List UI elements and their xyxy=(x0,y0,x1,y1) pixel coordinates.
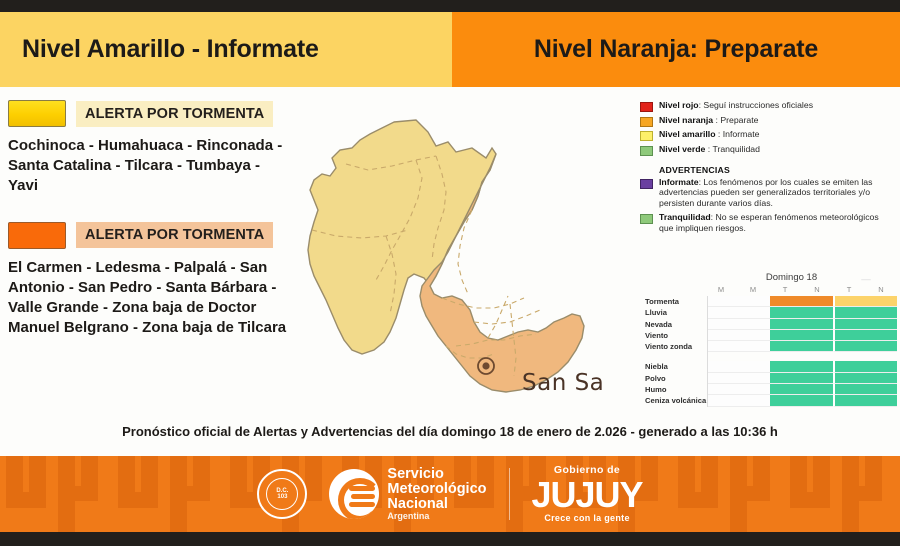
forecast-row-cells xyxy=(707,384,897,395)
footer-divider xyxy=(509,468,510,520)
yellow-level-swatch xyxy=(8,100,66,127)
defensa-civil-emblem-inner: D.C. 103 xyxy=(266,478,298,510)
alerts-column: ALERTA POR TORMENTA Cochinoca - Humahuac… xyxy=(0,100,300,354)
legend-desc-yellow: : Informate xyxy=(716,129,760,139)
forecast-cell xyxy=(802,384,833,395)
advertencia-name-tranquilidad: Tranquilidad xyxy=(659,212,711,222)
forecast-cell xyxy=(866,341,897,352)
forecast-row: Niebla xyxy=(645,361,897,372)
forecast-gap-cells xyxy=(707,352,897,361)
bottom-black-strip xyxy=(0,532,900,546)
legend-item-orange: Nivel naranja : Preparate xyxy=(640,115,895,127)
forecast-cell xyxy=(739,330,770,341)
forecast-cell xyxy=(802,330,833,341)
alert-tag-orange: ALERTA POR TORMENTA xyxy=(76,222,273,248)
legend-item-red: Nivel rojo: Seguí instrucciones oficiale… xyxy=(640,100,895,112)
forecast-cell xyxy=(739,341,770,352)
forecast-col-header: T xyxy=(833,285,865,294)
legend-name-yellow: Nivel amarillo xyxy=(659,129,716,139)
smn-line-3: Nacional xyxy=(387,497,486,512)
header-orange-level: Nivel Naranja: Preparate xyxy=(452,12,900,87)
forecast-row-label: Lluvia xyxy=(645,307,707,318)
legend-item-green: Nivel verde : Tranquilidad xyxy=(640,144,895,156)
forecast-row-cells xyxy=(707,395,897,406)
capital-city-label: San Sa xyxy=(522,370,604,396)
forecast-row-cells xyxy=(707,361,897,372)
forecast-col-header: M xyxy=(737,285,769,294)
footer-logos: D.C. 103 Servicio Meteorológico Nacional… xyxy=(0,456,900,532)
forecast-cell xyxy=(770,319,801,330)
forecast-cell xyxy=(866,361,897,372)
legend-name-orange: Nivel naranja xyxy=(659,115,713,125)
forecast-cell xyxy=(739,384,770,395)
alert-areas-orange: El Carmen - Ledesma - Palpalá - San Anto… xyxy=(0,249,300,338)
footer-brand-band: D.C. 103 Servicio Meteorológico Nacional… xyxy=(0,456,900,532)
smn-wordmark: Servicio Meteorológico Nacional Argentin… xyxy=(387,467,486,521)
forecast-row: Lluvia xyxy=(645,307,897,318)
header-bands: Nivel Amarillo - Informate Nivel Naranja… xyxy=(0,12,900,87)
legend-text-red: Nivel rojo: Seguí instrucciones oficiale… xyxy=(659,100,813,111)
forecast-day2-label: — xyxy=(841,274,891,285)
advertencia-item-informate: Informate: Los fenómenos por los cuales … xyxy=(640,177,895,209)
forecast-cell xyxy=(833,341,866,352)
forecast-cell xyxy=(739,319,770,330)
forecast-cell xyxy=(708,296,739,307)
legend-swatch-red xyxy=(640,102,653,112)
legend-swatch-orange xyxy=(640,117,653,127)
alert-areas-yellow: Cochinoca - Humahuaca - Rinconada - Sant… xyxy=(0,127,300,196)
forecast-cell xyxy=(770,341,801,352)
smn-line-1: Servicio xyxy=(387,467,486,482)
forecast-row-gap xyxy=(645,352,897,361)
gobierno-jujuy-logo: Gobierno de JUJUY Crece con la gente xyxy=(532,465,643,523)
weather-alert-infographic: Nivel Amarillo - Informate Nivel Naranja… xyxy=(0,0,900,546)
forecast-row: Ceniza volcánica xyxy=(645,395,897,406)
header-yellow-label: Nivel Amarillo - Informate xyxy=(0,35,319,64)
smn-line-4: Argentina xyxy=(387,512,486,521)
forecast-col-header: M xyxy=(705,285,737,294)
advertencia-swatch-purple xyxy=(640,179,653,189)
forecast-row: Tormenta xyxy=(645,296,897,307)
forecast-cell xyxy=(833,307,866,318)
legend-item-yellow: Nivel amarillo : Informate xyxy=(640,129,895,141)
forecast-column-headers: M M T N T N xyxy=(705,285,897,294)
jujuy-tagline: Crece con la gente xyxy=(532,514,643,523)
orange-level-swatch xyxy=(8,222,66,249)
forecast-cell xyxy=(833,361,866,372)
forecast-row-cells xyxy=(707,296,897,307)
forecast-rows: TormentaLluviaNevadaVientoViento zondaNi… xyxy=(645,296,897,407)
forecast-cell xyxy=(802,395,833,406)
forecast-cell xyxy=(708,361,739,372)
advertencia-text-tranquilidad: Tranquilidad: No se esperan fenómenos me… xyxy=(659,212,895,233)
forecast-row-cells xyxy=(707,373,897,384)
legend-swatch-green xyxy=(640,146,653,156)
forecast-row: Humo xyxy=(645,384,897,395)
defensa-civil-emblem-icon: D.C. 103 xyxy=(257,469,307,519)
forecast-col-header: T xyxy=(769,285,801,294)
forecast-cell xyxy=(770,373,801,384)
forecast-row: Polvo xyxy=(645,373,897,384)
forecast-row-cells xyxy=(707,307,897,318)
forecast-cell xyxy=(802,373,833,384)
forecast-cell xyxy=(802,296,833,307)
forecast-cell xyxy=(866,384,897,395)
forecast-cell xyxy=(770,296,801,307)
advertencia-item-tranquilidad: Tranquilidad: No se esperan fenómenos me… xyxy=(640,212,895,233)
legend-name-green: Nivel verde xyxy=(659,144,705,154)
jujuy-wordmark: JUJUY xyxy=(532,477,643,513)
forecast-cell xyxy=(770,395,801,406)
forecast-cell xyxy=(833,395,866,406)
forecast-row: Viento xyxy=(645,330,897,341)
alert-block-orange: ALERTA POR TORMENTA El Carmen - Ledesma … xyxy=(0,222,300,338)
forecast-cell xyxy=(833,330,866,341)
defensa-civil-line2: 103 xyxy=(277,494,287,500)
forecast-row-label: Tormenta xyxy=(645,296,707,307)
forecast-cell xyxy=(833,373,866,384)
forecast-cell xyxy=(739,296,770,307)
forecast-col-header: N xyxy=(865,285,897,294)
alert-tag-yellow: ALERTA POR TORMENTA xyxy=(76,101,273,127)
forecast-cell xyxy=(770,330,801,341)
legend-swatch-yellow xyxy=(640,131,653,141)
legend-panel: Nivel rojo: Seguí instrucciones oficiale… xyxy=(640,100,895,236)
forecast-footer-note: Pronóstico oficial de Alertas y Adverten… xyxy=(0,424,900,439)
forecast-row-label: Humo xyxy=(645,384,707,395)
header-yellow-level: Nivel Amarillo - Informate xyxy=(0,12,452,87)
forecast-col-header: N xyxy=(801,285,833,294)
legend-text-yellow: Nivel amarillo : Informate xyxy=(659,129,759,140)
advertencias-title: ADVERTENCIAS xyxy=(640,165,895,175)
forecast-cell xyxy=(739,395,770,406)
forecast-row: Nevada xyxy=(645,319,897,330)
forecast-cell xyxy=(802,341,833,352)
smn-bar-1 xyxy=(349,486,375,491)
alert-header-yellow: ALERTA POR TORMENTA xyxy=(0,100,300,127)
forecast-gap-label xyxy=(645,352,707,361)
forecast-cell xyxy=(866,319,897,330)
forecast-day1-label: Domingo 18 xyxy=(739,272,844,283)
forecast-cell xyxy=(833,384,866,395)
forecast-row-cells xyxy=(707,330,897,341)
advertencias-section: ADVERTENCIAS Informate: Los fenómenos po… xyxy=(640,165,895,234)
forecast-row-label: Viento zonda xyxy=(645,341,707,352)
legend-text-green: Nivel verde : Tranquilidad xyxy=(659,144,760,155)
smn-line-2: Meteorológico xyxy=(387,482,486,497)
forecast-cell xyxy=(739,307,770,318)
forecast-cell xyxy=(866,296,897,307)
forecast-cell xyxy=(739,373,770,384)
alert-block-yellow: ALERTA POR TORMENTA Cochinoca - Humahuac… xyxy=(0,100,300,196)
advertencia-text-informate: Informate: Los fenómenos por los cuales … xyxy=(659,177,895,209)
header-orange-label: Nivel Naranja: Preparate xyxy=(534,35,818,64)
forecast-cell xyxy=(770,361,801,372)
forecast-row-label: Polvo xyxy=(645,373,707,384)
forecast-cell xyxy=(833,319,866,330)
forecast-cell xyxy=(708,319,739,330)
forecast-row: Viento zonda xyxy=(645,341,897,352)
forecast-cell xyxy=(739,361,770,372)
forecast-cell xyxy=(802,361,833,372)
forecast-cell xyxy=(866,330,897,341)
smn-bar-2 xyxy=(351,494,375,499)
advertencia-name-informate: Informate xyxy=(659,177,699,187)
forecast-row-label: Ceniza volcánica xyxy=(645,395,707,406)
legend-text-orange: Nivel naranja : Preparate xyxy=(659,115,759,126)
forecast-row-cells xyxy=(707,319,897,330)
forecast-cell xyxy=(708,341,739,352)
smn-logo: Servicio Meteorológico Nacional Argentin… xyxy=(329,467,486,521)
forecast-cell xyxy=(833,296,866,307)
forecast-cell xyxy=(708,384,739,395)
legend-desc-green: : Tranquilidad xyxy=(705,144,760,154)
forecast-cell xyxy=(708,395,739,406)
forecast-row-label: Viento xyxy=(645,330,707,341)
forecast-row-label: Nevada xyxy=(645,319,707,330)
forecast-row-label: Niebla xyxy=(645,361,707,372)
forecast-cell xyxy=(802,319,833,330)
forecast-cell xyxy=(866,373,897,384)
forecast-cell xyxy=(770,384,801,395)
forecast-row-cells xyxy=(707,341,897,352)
forecast-cell xyxy=(770,307,801,318)
advertencia-swatch-green xyxy=(640,214,653,224)
forecast-cell xyxy=(708,330,739,341)
legend-name-red: Nivel rojo xyxy=(659,100,699,110)
forecast-cell xyxy=(708,373,739,384)
alert-header-orange: ALERTA POR TORMENTA xyxy=(0,222,300,249)
top-black-strip xyxy=(0,0,900,12)
jujuy-province-map: San Sa xyxy=(296,118,626,418)
forecast-cell xyxy=(866,307,897,318)
forecast-cell xyxy=(866,395,897,406)
smn-bar-3 xyxy=(349,502,375,507)
legend-desc-red: : Seguí instrucciones oficiales xyxy=(699,100,813,110)
legend-desc-orange: : Preparate xyxy=(713,115,758,125)
forecast-cell xyxy=(802,307,833,318)
forecast-cell xyxy=(708,307,739,318)
smn-mark-icon xyxy=(329,469,379,519)
